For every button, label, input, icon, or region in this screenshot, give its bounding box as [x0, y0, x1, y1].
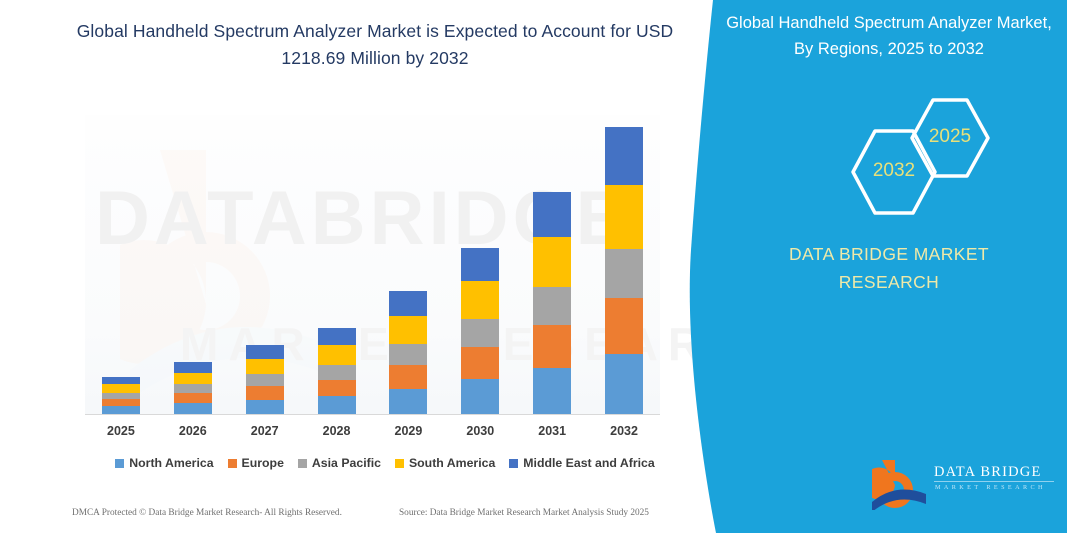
- x-axis-label: 2030: [444, 424, 516, 438]
- bar-segment: [461, 319, 499, 347]
- bar-segment: [246, 359, 284, 374]
- bar-segment: [318, 365, 356, 380]
- bar-segment: [461, 379, 499, 414]
- bar-segment: [533, 368, 571, 414]
- bar-segment: [533, 192, 571, 237]
- bar-group: [373, 100, 445, 414]
- chart-title: Global Handheld Spectrum Analyzer Market…: [55, 18, 695, 72]
- bar-group: [516, 100, 588, 414]
- legend-swatch-icon: [509, 459, 518, 468]
- bar-segment: [533, 325, 571, 368]
- bar-segment: [318, 396, 356, 414]
- bar-segment: [605, 127, 643, 185]
- x-axis-label: 2028: [301, 424, 373, 438]
- bar-segment: [102, 377, 140, 385]
- bar-segment: [246, 345, 284, 359]
- brand-panel-title: Global Handheld Spectrum Analyzer Market…: [724, 10, 1054, 62]
- bar-segment: [318, 380, 356, 397]
- bar-group: [301, 100, 373, 414]
- hexagon-start-year: 2025: [908, 96, 992, 180]
- x-axis-label: 2031: [516, 424, 588, 438]
- brand-name-line2: RESEARCH: [724, 268, 1054, 296]
- bar-segment: [174, 384, 212, 393]
- x-axis-label: 2027: [229, 424, 301, 438]
- bar-group: [229, 100, 301, 414]
- bar-segment: [605, 249, 643, 298]
- bar-segment: [605, 354, 643, 414]
- stacked-bar: [318, 328, 356, 414]
- bar-segment: [318, 328, 356, 346]
- brand-name: DATA BRIDGE MARKET RESEARCH: [724, 240, 1054, 296]
- bar-segment: [389, 365, 427, 389]
- legend-swatch-icon: [228, 459, 237, 468]
- stacked-bar: [102, 377, 140, 414]
- legend-label: North America: [129, 456, 213, 470]
- legend-item[interactable]: Europe: [228, 456, 284, 470]
- bar-segment: [389, 344, 427, 365]
- bar-segment: [246, 400, 284, 414]
- bar-group: [157, 100, 229, 414]
- stacked-bar: [461, 248, 499, 414]
- legend-item[interactable]: Middle East and Africa: [509, 456, 654, 470]
- bar-segment: [461, 347, 499, 379]
- hexagon-group: 2032 2025: [712, 96, 1067, 206]
- bar-segment: [102, 399, 140, 406]
- bar-segment: [461, 248, 499, 282]
- chart-legend: North AmericaEuropeAsia PacificSouth Ame…: [85, 456, 685, 470]
- bar-segment: [605, 298, 643, 354]
- footer-source: Source: Data Bridge Market Research Mark…: [399, 508, 649, 518]
- legend-swatch-icon: [395, 459, 404, 468]
- stacked-bar: [246, 345, 284, 414]
- bar-segment: [246, 386, 284, 400]
- legend-item[interactable]: North America: [115, 456, 213, 470]
- bar-segment: [461, 281, 499, 318]
- stacked-bar-chart: [85, 100, 660, 414]
- bar-group: [85, 100, 157, 414]
- infographic-root: DATABRIDGE MARKET RESEARCH Global Handhe…: [0, 0, 1067, 533]
- logo-wordmark: DATA BRIDGE: [934, 464, 1042, 481]
- logo-tagline: MARKET RESEARCH: [935, 484, 1046, 491]
- x-axis-label: 2029: [373, 424, 445, 438]
- legend-label: Middle East and Africa: [523, 456, 654, 470]
- bar-group: [444, 100, 516, 414]
- bar-segment: [389, 291, 427, 316]
- bar-segment: [174, 373, 212, 385]
- legend-item[interactable]: Asia Pacific: [298, 456, 381, 470]
- legend-label: South America: [409, 456, 495, 470]
- hexagon-start-year-label: 2025: [908, 126, 992, 148]
- bar-segment: [533, 287, 571, 325]
- x-axis-label: 2032: [588, 424, 660, 438]
- legend-swatch-icon: [298, 459, 307, 468]
- legend-swatch-icon: [115, 459, 124, 468]
- stacked-bar: [389, 291, 427, 414]
- brand-name-line1: DATA BRIDGE MARKET: [724, 240, 1054, 268]
- legend-item[interactable]: South America: [395, 456, 495, 470]
- logo-divider: [934, 481, 1054, 482]
- chart-panel: DATABRIDGE MARKET RESEARCH Global Handhe…: [0, 0, 720, 533]
- x-axis-label: 2025: [85, 424, 157, 438]
- legend-label: Europe: [242, 456, 284, 470]
- bar-group: [588, 100, 660, 414]
- bar-segment: [102, 384, 140, 392]
- bar-segment: [533, 237, 571, 287]
- data-bridge-logo-icon: [872, 458, 930, 510]
- bar-segment: [605, 185, 643, 249]
- bar-segment: [389, 316, 427, 344]
- stacked-bar: [174, 362, 212, 414]
- bar-segment: [174, 393, 212, 403]
- bar-segment: [389, 389, 427, 414]
- footer-copyright: DMCA Protected © Data Bridge Market Rese…: [72, 508, 342, 518]
- x-axis-label: 2026: [157, 424, 229, 438]
- legend-label: Asia Pacific: [312, 456, 381, 470]
- bar-segment: [102, 406, 140, 414]
- bar-segment: [246, 374, 284, 386]
- stacked-bar: [605, 127, 643, 414]
- brand-panel-content: Global Handheld Spectrum Analyzer Market…: [712, 0, 1067, 533]
- x-axis-line: [85, 414, 660, 415]
- bar-segment: [174, 403, 212, 414]
- bar-segment: [174, 362, 212, 373]
- x-axis-labels: 20252026202720282029203020312032: [85, 424, 660, 438]
- bar-segment: [318, 345, 356, 365]
- footer: DMCA Protected © Data Bridge Market Rese…: [0, 508, 700, 526]
- company-logo: DATA BRIDGE MARKET RESEARCH: [872, 458, 1062, 514]
- stacked-bar: [533, 192, 571, 414]
